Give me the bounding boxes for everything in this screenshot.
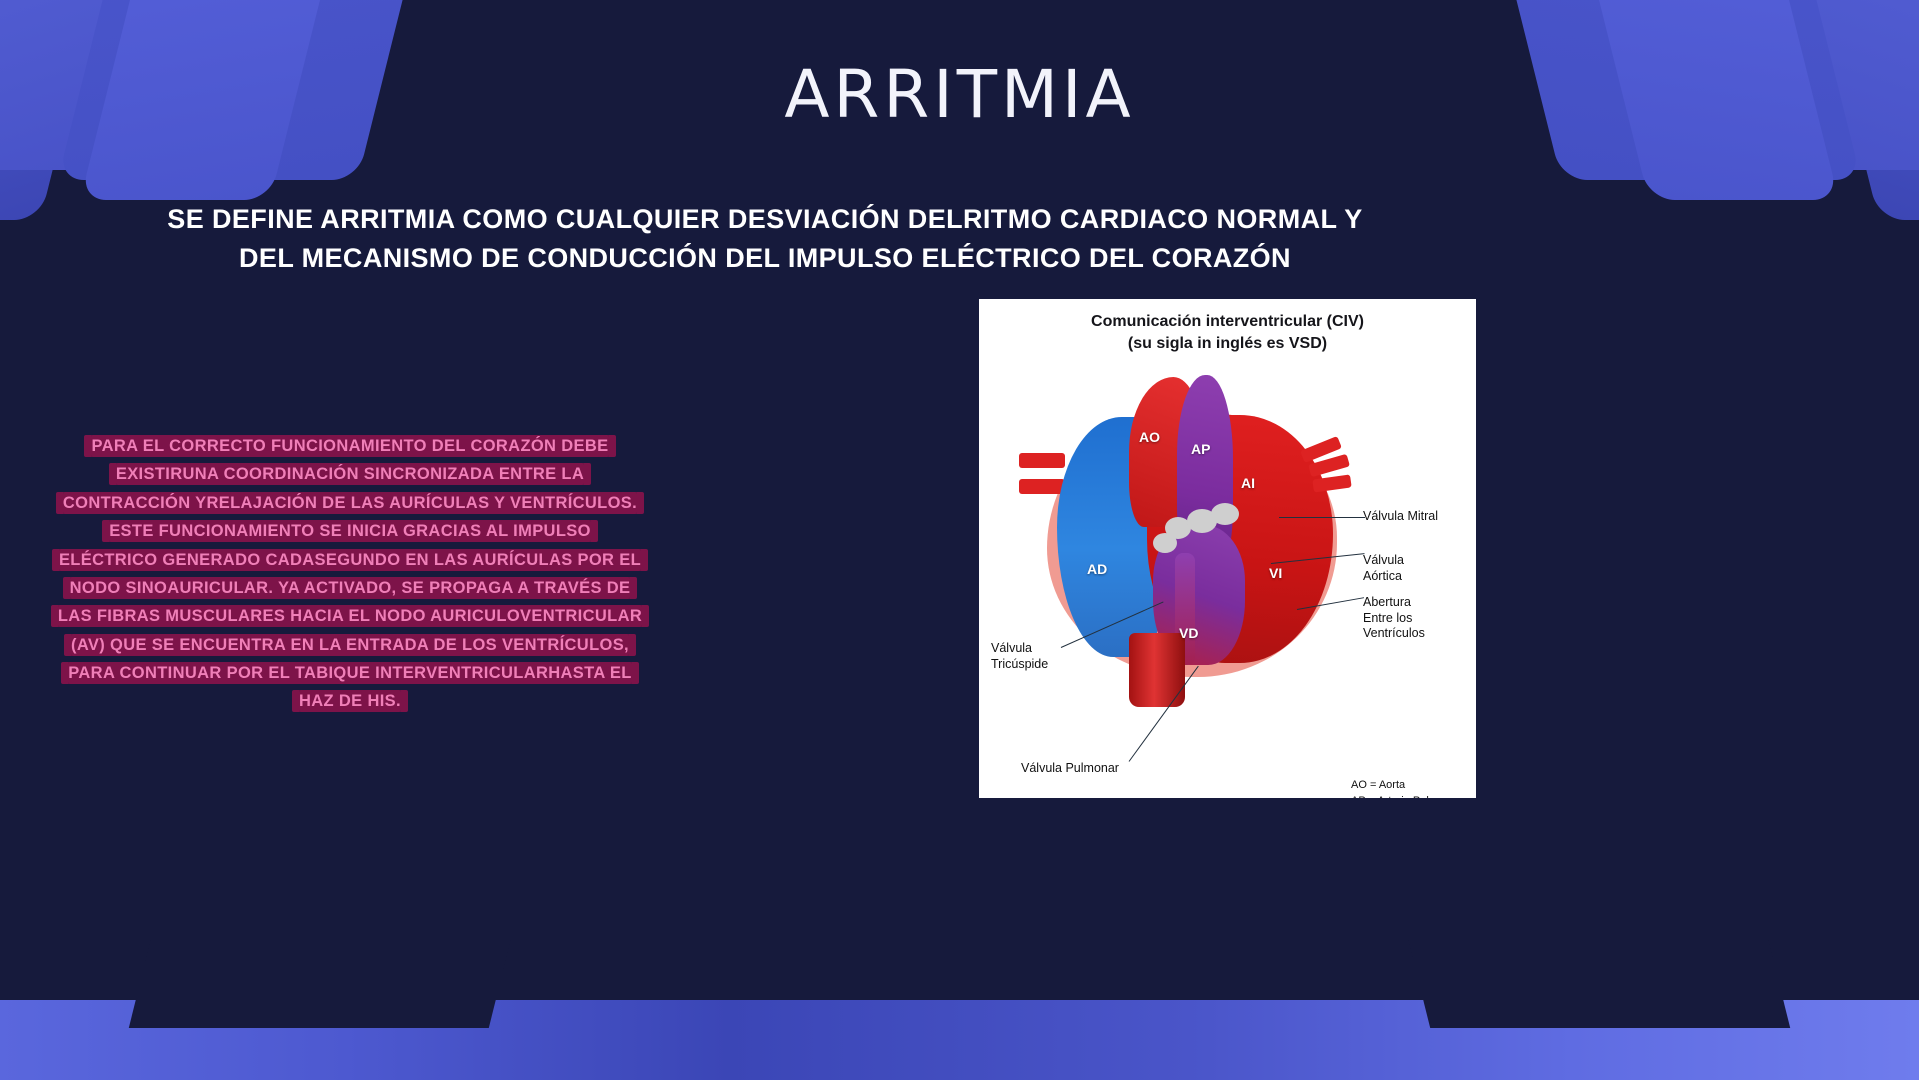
diagram-title-line-1: Comunicación interventricular (CIV) — [979, 311, 1476, 333]
paragraph-line: ESTE FUNCIONAMIENTO SE INICIA GRACIAS AL… — [109, 520, 591, 542]
callout-line: Entre los — [1363, 611, 1425, 627]
callout-valvula-tricuspide: Válvula Tricúspide — [991, 641, 1048, 672]
valve-shape — [1153, 533, 1177, 553]
vena-cava-vessel — [1019, 479, 1065, 494]
chamber-label-ai: AI — [1241, 475, 1255, 491]
paragraph-line: NODO SINOAURICULAR. YA ACTIVADO, SE PROP… — [70, 577, 631, 599]
paragraph-line: (AV) QUE SE ENCUENTRA EN LA ENTRADA DE L… — [71, 634, 629, 656]
highlighted-paragraph: PARA EL CORRECTO FUNCIONAMIENTO DEL CORA… — [45, 432, 655, 716]
paragraph-line: ELÉCTRICO GENERADO CADASEGUNDO EN LAS AU… — [59, 549, 641, 571]
callout-abertura-ventriculos: Abertura Entre los Ventrículos — [1363, 595, 1425, 642]
callout-line: Abertura — [1363, 595, 1425, 611]
callout-line: Válvula — [1363, 553, 1404, 569]
chamber-label-ap: AP — [1191, 441, 1210, 457]
callout-valvula-mitral: Válvula Mitral — [1363, 509, 1438, 525]
callout-valvula-aortica: Válvula Aórtica — [1363, 553, 1404, 584]
callout-valvula-pulmonar: Válvula Pulmonar — [1021, 761, 1119, 777]
bottom-accent-band — [0, 1000, 1919, 1080]
callout-line: Válvula — [991, 641, 1048, 657]
slide-subtitle: SE DEFINE ARRITMIA COMO CUALQUIER DESVIA… — [150, 200, 1380, 278]
paragraph-line: PARA CONTINUAR POR EL TABIQUE INTERVENTR… — [68, 662, 631, 684]
bottom-notch-left — [129, 938, 511, 1028]
diagram-title: Comunicación interventricular (CIV) (su … — [979, 311, 1476, 354]
chamber-label-vd: VD — [1179, 625, 1198, 641]
abbreviation-item: AO = Aorta — [1351, 777, 1472, 793]
valve-shape — [1211, 503, 1239, 525]
callout-line: Tricúspide — [991, 657, 1048, 673]
slide-title: ARRITMIA — [0, 56, 1919, 133]
chamber-label-ao: AO — [1139, 429, 1160, 445]
callout-line: Aórtica — [1363, 569, 1404, 585]
paragraph-line: EXISTIRUNA COORDINACIÓN SINCRONIZADA ENT… — [116, 463, 584, 485]
paragraph-line: LAS FIBRAS MUSCULARES HACIA EL NODO AURI… — [58, 605, 642, 627]
chamber-label-vi: VI — [1269, 565, 1282, 581]
paragraph-line: HAZ DE HIS. — [299, 690, 401, 712]
callout-line: Ventrículos — [1363, 626, 1425, 642]
diagram-abbreviation-key: AO = Aorta AP = Arteria Pulmonar AI = At… — [1351, 777, 1472, 798]
heart-diagram-image: Comunicación interventricular (CIV) (su … — [979, 299, 1476, 798]
callout-leader-line — [1279, 517, 1365, 518]
vena-cava-vessel — [1019, 453, 1065, 468]
bottom-notch-right — [1408, 938, 1790, 1028]
chamber-label-ad: AD — [1087, 561, 1107, 577]
diagram-title-line-2: (su sigla in inglés es VSD) — [979, 333, 1476, 355]
paragraph-line: CONTRACCIÓN YRELAJACIÓN DE LAS AURÍCULAS… — [63, 492, 637, 514]
heart-illustration: AO AP AI AD VI VD Válvula Mitral Válvula… — [979, 357, 1476, 737]
paragraph-line: PARA EL CORRECTO FUNCIONAMIENTO DEL CORA… — [91, 435, 608, 457]
abbreviation-item: AP = Arteria Pulmonar — [1351, 793, 1472, 798]
